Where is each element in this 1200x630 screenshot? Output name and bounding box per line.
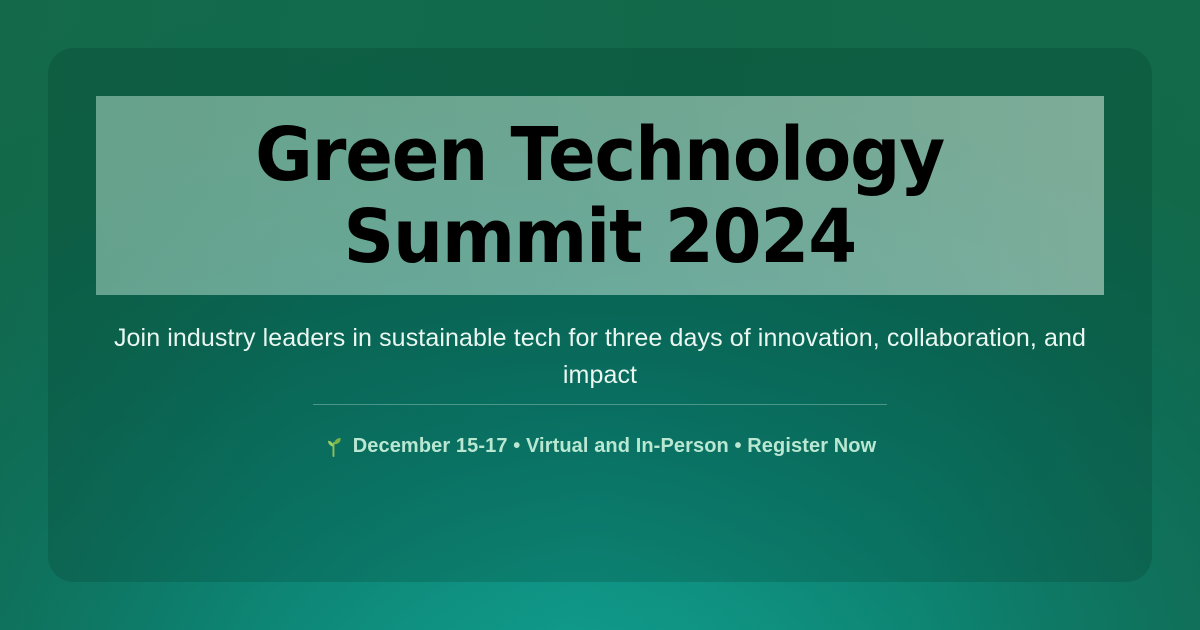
event-meta: December 15-17 • Virtual and In-Person •… [96,432,1104,460]
event-banner: Green Technology Summit 2024 Join indust… [0,0,1200,630]
event-title-line-1: Green Technology [256,114,945,196]
seedling-icon [324,435,344,457]
event-title-line-2: Summit 2024 [344,196,856,278]
event-subtitle: Join industry leaders in sustainable tec… [96,320,1104,394]
section-divider [313,404,887,405]
event-meta-text: December 15-17 • Virtual and In-Person •… [353,432,877,460]
banner-card: Green Technology Summit 2024 Join indust… [48,48,1152,582]
title-band: Green Technology Summit 2024 [96,96,1104,295]
